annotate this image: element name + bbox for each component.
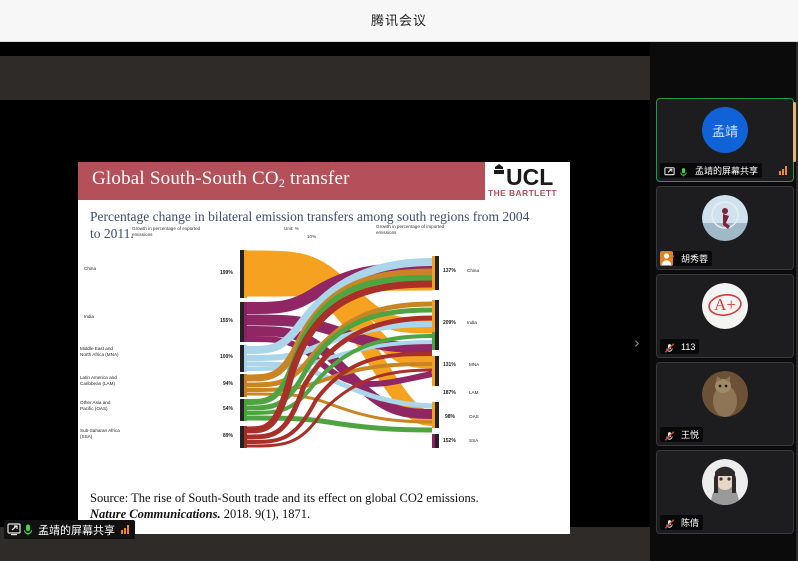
left-node-label-india: India	[84, 314, 94, 320]
slide-header: Global South-South CO2 transfer UCL THE …	[78, 162, 570, 200]
muted-badge	[660, 251, 673, 266]
ucl-tagline: THE BARTLETT	[488, 188, 557, 198]
left-node-label-china: China	[84, 266, 96, 272]
source-journal: Nature Communications.	[90, 507, 221, 521]
mic-on-icon	[21, 523, 35, 536]
avatar: 孟靖	[702, 107, 748, 153]
avatar-text: A+	[714, 295, 736, 314]
screen-share-icon	[664, 164, 678, 177]
participant-tile-2[interactable]: A+ 113	[656, 274, 794, 358]
participant-name-3: 王悦	[681, 428, 699, 441]
right-value-oas: 98%	[445, 414, 455, 420]
left-node-label-mna: Middle East and North Africa (MNA)	[80, 346, 122, 358]
left-node-label-lam: Latin America and Caribbean (LAM)	[80, 375, 124, 387]
left-value-lam: 94%	[223, 381, 233, 387]
signal-bars-icon	[779, 166, 787, 175]
right-value-lam: 187%	[443, 390, 456, 396]
participant-tile-3[interactable]: 王悦	[656, 362, 794, 446]
left-value-mna: 100%	[220, 354, 233, 360]
participant-name-0: 孟靖的屏幕共享	[695, 164, 758, 177]
right-value-china: 137%	[443, 268, 456, 274]
participant-name-bar-3: 王悦	[660, 427, 703, 442]
participant-name-bar-4: 陈倩	[660, 515, 703, 530]
right-node-label-india: India	[467, 320, 477, 326]
shared-screen-stage[interactable]: Global South-South CO2 transfer UCL THE …	[0, 42, 650, 561]
slide-title-tail: transfer	[285, 168, 350, 189]
participant-tile-0[interactable]: 孟靖 孟靖的屏幕共享	[656, 98, 794, 182]
right-node-label-mna: MNA	[469, 362, 479, 368]
window-title: 腾讯会议	[0, 0, 798, 42]
sankey-right-nodes	[432, 256, 439, 448]
slide-title-subscript: 2	[279, 176, 285, 190]
participant-tile-1[interactable]: 胡秀蓉	[656, 186, 794, 270]
participant-name-1: 胡秀蓉	[681, 252, 708, 265]
window-titlebar: 腾讯会议	[0, 0, 798, 42]
right-node-label-ssa: SSA	[469, 438, 478, 444]
left-node-label-oas: Other Asia and Pacific (OAS)	[80, 400, 120, 412]
right-axis-label: Growth in percentage of imported emissio…	[376, 224, 448, 236]
left-node-label-ssa: Sub-Saharan Africa (SSA)	[80, 428, 122, 440]
ucl-logo: UCL THE BARTLETT	[485, 162, 570, 206]
share-status-label: 孟靖的屏幕共享	[38, 522, 115, 538]
screen-share-icon	[7, 523, 21, 536]
right-node-label-lam: LAM	[469, 390, 478, 396]
right-value-ssa: 152%	[443, 438, 456, 444]
mic-on-icon	[678, 164, 692, 177]
unit-scale-label: 10%	[307, 234, 316, 240]
right-node-label-china: China	[467, 268, 479, 274]
presentation-slide: Global South-South CO2 transfer UCL THE …	[78, 162, 570, 534]
participant-name-4: 陈倩	[681, 516, 699, 529]
avatar	[702, 195, 748, 241]
expand-panel-chevron-icon[interactable]: ›	[634, 336, 640, 351]
meeting-window: 腾讯会议 Global South-South CO2 transfer UCL…	[0, 0, 798, 561]
right-value-mna: 131%	[443, 362, 456, 368]
participants-panel[interactable]: 孟靖 孟靖的屏幕共享	[650, 42, 798, 561]
participant-tile-4[interactable]: 陈倩	[656, 450, 794, 534]
slide-source: Source: The rise of South-South trade an…	[90, 490, 558, 522]
left-value-china: 199%	[220, 270, 233, 276]
stage-top-band	[0, 56, 650, 100]
sankey-left-nodes	[240, 250, 247, 448]
slide-title-main: Global South-South CO	[92, 168, 279, 189]
mic-off-icon	[664, 516, 678, 529]
signal-bars-icon	[121, 525, 129, 534]
right-node-label-oas: OAS	[469, 414, 479, 420]
avatar	[702, 371, 748, 417]
mic-off-icon	[664, 340, 678, 353]
avatar	[702, 459, 748, 505]
sankey-figure: .fl{fill:none;stroke-linecap:butt;}	[132, 244, 532, 449]
screen-share-status-bar: 孟靖的屏幕共享	[4, 520, 135, 539]
left-axis-label: Growth in percentage of exported emissio…	[132, 226, 208, 238]
svg-text:UCL: UCL	[506, 164, 553, 188]
participant-name-bar-2: 113	[660, 339, 699, 354]
slide-title: Global South-South CO2 transfer	[92, 168, 350, 190]
source-line-1: Source: The rise of South-South trade an…	[90, 491, 479, 505]
right-value-india: 209%	[443, 320, 456, 326]
left-value-oas: 54%	[223, 406, 233, 412]
ucl-wordmark-icon: UCL	[489, 164, 566, 188]
mic-off-icon	[664, 428, 678, 441]
participant-name-2: 113	[681, 342, 695, 352]
unit-label: Unit: %	[284, 226, 299, 232]
participant-name-bar-0: 孟靖的屏幕共享	[660, 163, 762, 178]
avatar: A+	[702, 283, 748, 329]
left-value-ssa: 89%	[223, 433, 233, 439]
source-citation: 2018. 9(1), 1871.	[221, 507, 311, 521]
left-value-india: 155%	[220, 318, 233, 324]
